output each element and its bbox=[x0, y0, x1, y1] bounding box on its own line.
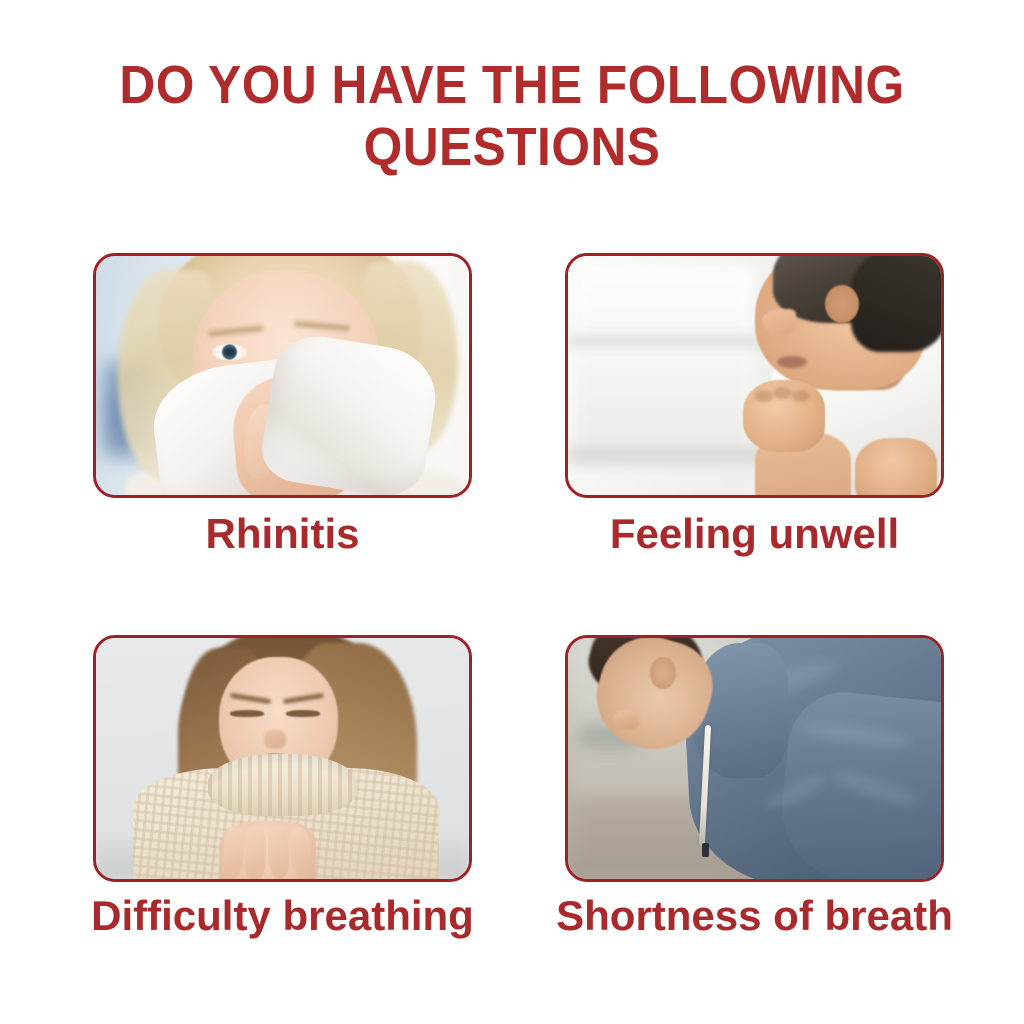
symptom-card-feeling-unwell[interactable] bbox=[565, 253, 944, 498]
difficulty-breathing-photo bbox=[96, 638, 469, 879]
caption-shortness-of-breath: Shortness of breath bbox=[545, 892, 964, 940]
feeling-unwell-photo bbox=[568, 256, 941, 495]
page-title: DO YOU HAVE THE FOLLOWING QUESTIONS bbox=[0, 54, 1024, 178]
symptom-card-rhinitis[interactable] bbox=[93, 253, 472, 498]
rhinitis-photo bbox=[96, 256, 469, 495]
caption-rhinitis: Rhinitis bbox=[93, 510, 472, 558]
caption-difficulty-breathing: Difficulty breathing bbox=[73, 892, 492, 940]
symptom-poster: DO YOU HAVE THE FOLLOWING QUESTIONS Rhin… bbox=[0, 0, 1024, 1024]
symptom-card-shortness-of-breath[interactable] bbox=[565, 635, 944, 882]
page-title-line-2: QUESTIONS bbox=[41, 116, 983, 178]
page-title-line-1: DO YOU HAVE THE FOLLOWING bbox=[41, 54, 983, 116]
caption-feeling-unwell: Feeling unwell bbox=[565, 510, 944, 558]
symptom-card-difficulty-breathing[interactable] bbox=[93, 635, 472, 882]
shortness-of-breath-photo bbox=[568, 638, 941, 879]
